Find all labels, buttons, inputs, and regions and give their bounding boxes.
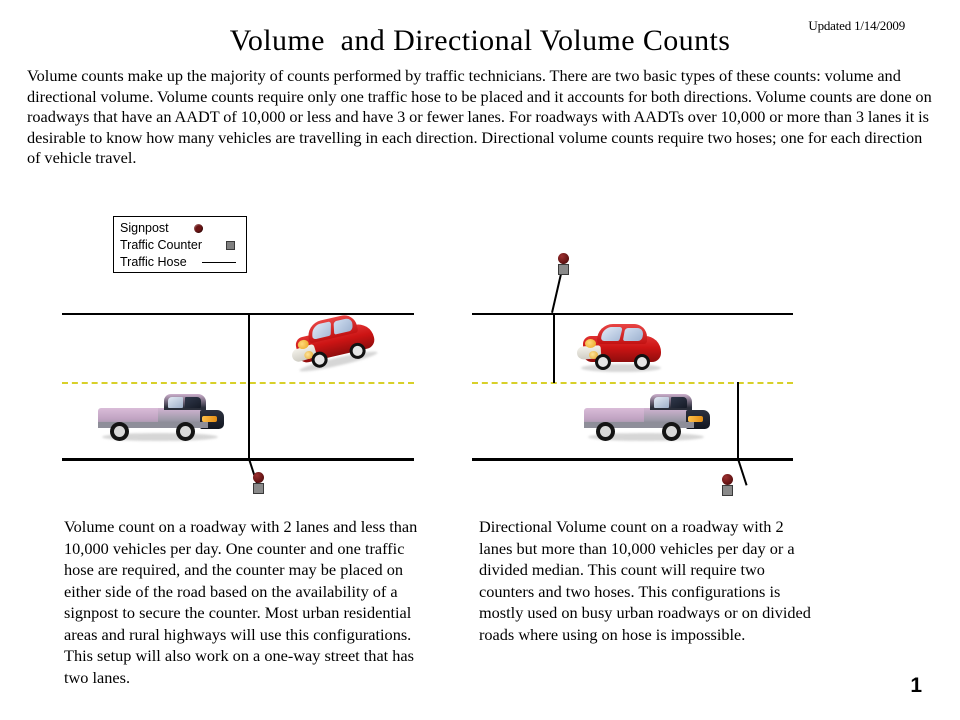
signpost-right-lower: [722, 474, 733, 485]
traffic-hose-right-lower: [737, 382, 739, 459]
road-center-line-right: [472, 382, 793, 384]
diagram-directional-volume-count: [0, 0, 960, 520]
caption-directional-volume-count: Directional Volume count on a roadway wi…: [479, 516, 814, 645]
page-number: 1: [910, 674, 922, 698]
traffic-hose-right-lower-tail: [737, 459, 747, 486]
road-edge-bottom-right: [472, 458, 793, 461]
traffic-counter-right-lower: [722, 485, 733, 496]
vehicle-pickup-truck-right: [582, 392, 712, 442]
signpost-right-upper: [558, 253, 569, 264]
road-edge-top-right: [472, 313, 793, 315]
caption-volume-count: Volume count on a roadway with 2 lanes a…: [64, 516, 424, 688]
traffic-counter-right-upper: [558, 264, 569, 275]
vehicle-red-sedan-right: [575, 322, 667, 374]
traffic-hose-right-upper: [553, 313, 555, 383]
